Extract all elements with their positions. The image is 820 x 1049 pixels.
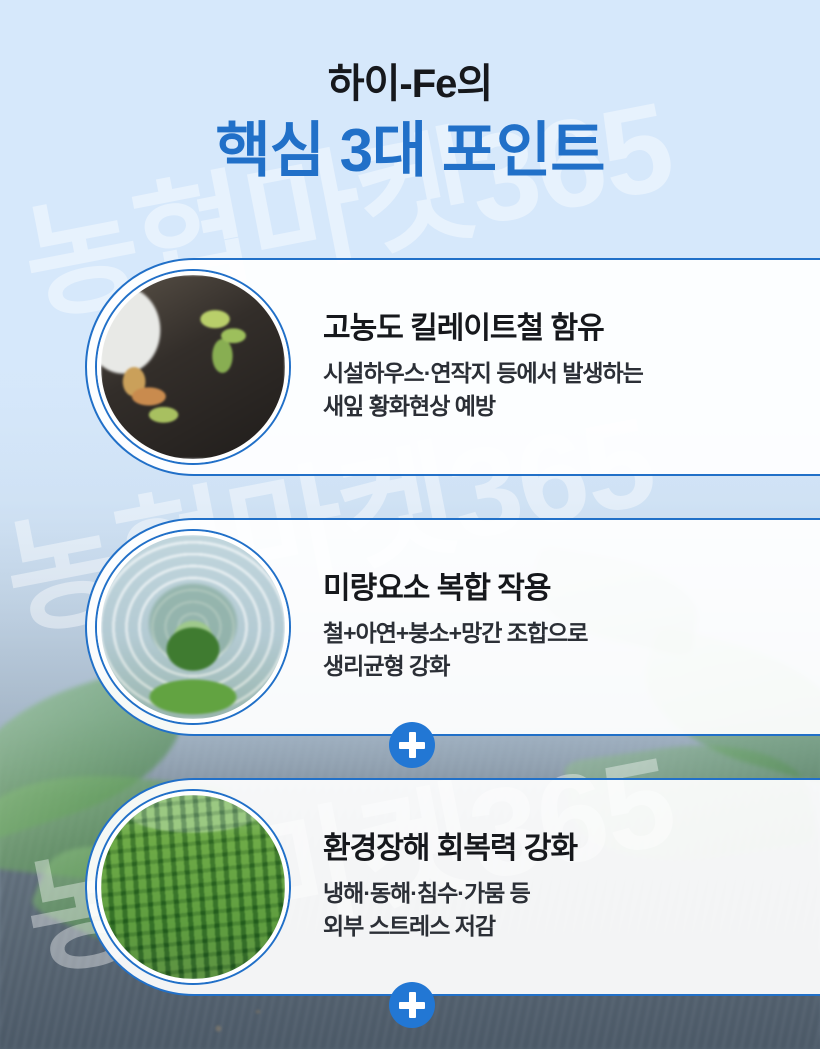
point-title: 고농도 킬레이트철 함유 [323, 311, 643, 347]
point-description-line: 시설하우스·연작지 등에서 발생하는 [323, 357, 643, 390]
point-text-3: 환경장해 회복력 강화 냉해·동해·침수·가뭄 등 외부 스트레스 저감 [289, 831, 597, 942]
point-description-line: 새잎 황화현상 예방 [323, 390, 643, 423]
point-description-line: 냉해·동해·침수·가뭄 등 [323, 877, 577, 910]
point-photo-3 [97, 791, 289, 983]
header: 하이-Fe의 핵심 3대 포인트 [0, 62, 820, 187]
points-list: 고농도 킬레이트철 함유 시설하우스·연작지 등에서 발생하는 새잎 황화현상 … [0, 258, 820, 996]
point-card-2[interactable]: 미량요소 복합 작용 철+아연+붕소+망간 조합으로 생리균형 강화 [85, 518, 820, 736]
plus-icon [389, 982, 435, 1028]
point-description: 철+아연+붕소+망간 조합으로 생리균형 강화 [323, 617, 587, 682]
new-shoots-on-soil-photo [101, 275, 285, 459]
green-crop-rows-photo [101, 795, 285, 979]
point-description: 시설하우스·연작지 등에서 발생하는 새잎 황화현상 예방 [323, 357, 643, 422]
point-photo-1 [97, 271, 289, 463]
point-text-2: 미량요소 복합 작용 철+아연+붕소+망간 조합으로 생리균형 강화 [289, 571, 607, 682]
plus-icon [389, 722, 435, 768]
point-description-line: 철+아연+붕소+망간 조합으로 [323, 617, 587, 650]
point-card-3[interactable]: 환경장해 회복력 강화 냉해·동해·침수·가뭄 등 외부 스트레스 저감 [85, 778, 820, 996]
page-title: 핵심 3대 포인트 [0, 116, 820, 187]
point-description-line: 외부 스트레스 저감 [323, 910, 577, 943]
point-description-line: 생리균형 강화 [323, 650, 587, 683]
eyebrow-text: 하이-Fe의 [0, 62, 820, 106]
point-title: 미량요소 복합 작용 [323, 571, 587, 607]
point-photo-2 [97, 531, 289, 723]
poster-root: 농협마켓365 농협마켓365 농협마켓365 하이-Fe의 핵심 3대 포인트… [0, 0, 820, 1049]
point-description: 냉해·동해·침수·가뭄 등 외부 스트레스 저감 [323, 877, 577, 942]
point-card-1[interactable]: 고농도 킬레이트철 함유 시설하우스·연작지 등에서 발생하는 새잎 황화현상 … [85, 258, 820, 476]
greenhouse-tunnel-photo [101, 535, 285, 719]
point-title: 환경장해 회복력 강화 [323, 831, 577, 867]
card-spacer [0, 476, 820, 518]
point-text-1: 고농도 킬레이트철 함유 시설하우스·연작지 등에서 발생하는 새잎 황화현상 … [289, 311, 663, 422]
